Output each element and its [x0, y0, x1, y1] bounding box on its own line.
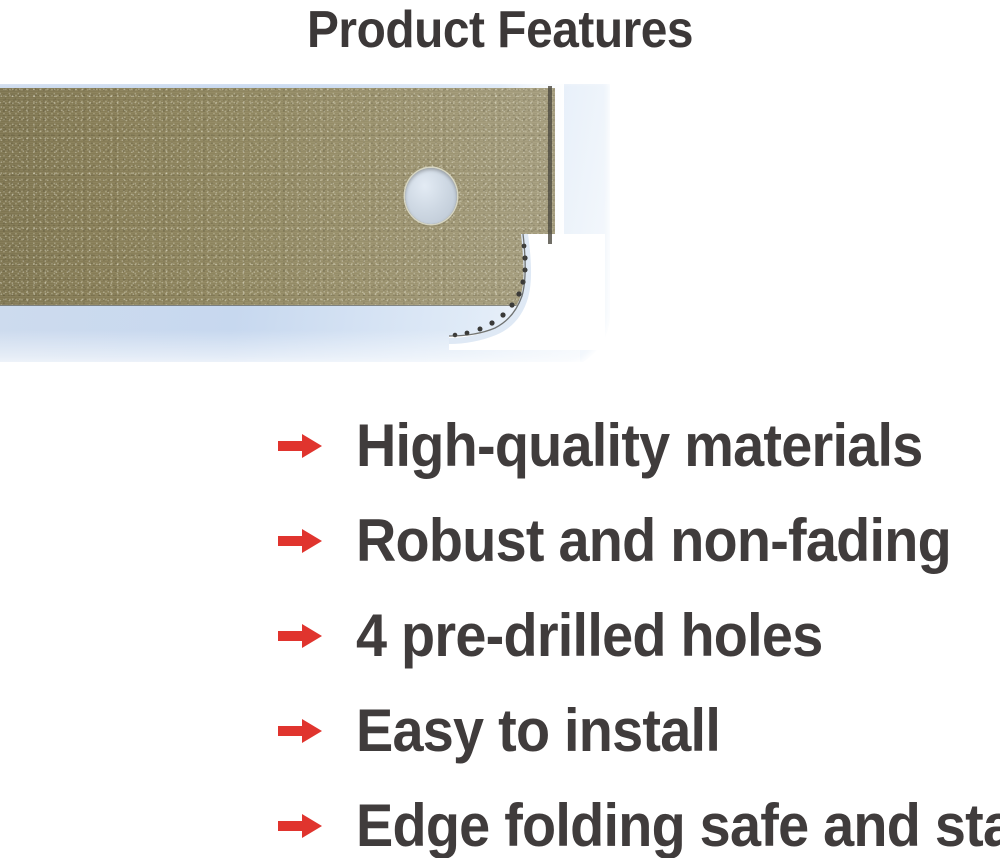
- feature-label: High-quality materials: [356, 415, 923, 477]
- feature-label: Edge folding safe and stable: [356, 795, 1000, 857]
- feature-item: Robust and non-fading: [0, 493, 1000, 588]
- red-right-arrow-icon: [278, 813, 322, 839]
- feature-item: Easy to install: [0, 683, 1000, 778]
- product-photo: [0, 62, 640, 362]
- feature-list: High-quality materials Robust and non-fa…: [0, 398, 1000, 858]
- feature-label: Easy to install: [356, 700, 720, 762]
- page-title: Product Features: [40, 2, 960, 58]
- feature-item: High-quality materials: [0, 398, 1000, 493]
- red-right-arrow-icon: [278, 528, 322, 554]
- feature-label: 4 pre-drilled holes: [356, 605, 822, 667]
- product-features-page: Product Features: [0, 0, 1000, 858]
- feature-label: Robust and non-fading: [356, 510, 951, 572]
- serrated-corner-edge: [455, 240, 595, 340]
- feature-item: Edge folding safe and stable: [0, 778, 1000, 858]
- pre-drilled-hole: [405, 168, 457, 224]
- feature-item: 4 pre-drilled holes: [0, 588, 1000, 683]
- frame-fold-line: [548, 86, 562, 244]
- red-right-arrow-icon: [278, 623, 322, 649]
- red-right-arrow-icon: [278, 718, 322, 744]
- red-right-arrow-icon: [278, 433, 322, 459]
